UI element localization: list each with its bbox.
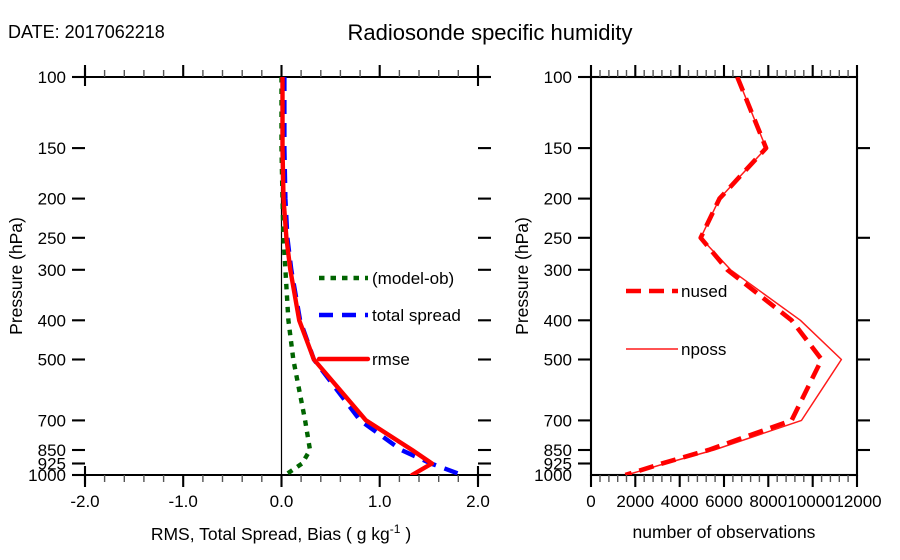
- right-ytick-1000: 1000: [534, 466, 572, 485]
- left-ytick-1000: 1000: [28, 466, 66, 485]
- legend-label-rmse: rmse: [372, 350, 410, 369]
- left-xtick-neg2: -2.0: [70, 492, 99, 511]
- left-xtick-neg1: -1.0: [169, 492, 198, 511]
- right-y-axis-title: Pressure (hPa): [512, 217, 532, 335]
- legend-label-total-spread: total spread: [372, 306, 461, 325]
- right-ytick-500: 500: [544, 351, 572, 370]
- left-y-ticks-right: [478, 77, 491, 475]
- right-xtick-6000: 6000: [705, 492, 743, 511]
- left-xtick-pos1: 1.0: [368, 492, 392, 511]
- date-label: DATE: 2017062218: [8, 22, 165, 42]
- left-y-tick-labels: 100 150 200 250 300 400 500 700 850 925 …: [28, 68, 66, 485]
- left-x-axis-title-main: RMS, Total Spread, Bias ( g kg: [151, 524, 390, 544]
- right-x-major-ticks: [591, 65, 857, 487]
- left-xtick-zero: 0.0: [270, 492, 294, 511]
- left-ytick-300: 300: [38, 261, 66, 280]
- figure-svg: DATE: 2017062218 Radiosonde specific hum…: [0, 0, 900, 560]
- legend-label-nposs: nposs: [681, 340, 726, 359]
- left-x-axis-title: RMS, Total Spread, Bias ( g kg-1 ): [151, 522, 411, 544]
- right-xtick-0: 0: [586, 492, 595, 511]
- right-ytick-700: 700: [544, 411, 572, 430]
- left-y-axis-title: Pressure (hPa): [6, 217, 26, 335]
- series-nused: [625, 77, 821, 475]
- right-panel: 100 150 200 250 300 400 500 700 850 925 …: [512, 65, 882, 542]
- left-ytick-700: 700: [38, 411, 66, 430]
- left-x-axis-title-tail: ): [400, 524, 411, 544]
- right-ytick-300: 300: [544, 261, 572, 280]
- left-ytick-200: 200: [38, 190, 66, 209]
- page-title: Radiosonde specific humidity: [348, 20, 633, 45]
- left-y-ticks: [72, 77, 85, 475]
- right-xtick-8000: 8000: [749, 492, 787, 511]
- left-x-axis-title-sup: -1: [390, 522, 401, 536]
- left-ytick-400: 400: [38, 311, 66, 330]
- right-xtick-12000: 12000: [834, 492, 881, 511]
- right-series-group: [625, 77, 841, 475]
- right-axis-frame: [591, 77, 857, 475]
- right-y-tick-labels: 100 150 200 250 300 400 500 700 850 925 …: [534, 68, 572, 485]
- right-xtick-10000: 10000: [787, 492, 834, 511]
- left-ytick-100: 100: [38, 68, 66, 87]
- right-legend: nused nposs: [626, 282, 727, 359]
- right-ytick-400: 400: [544, 311, 572, 330]
- plot-canvas: DATE: 2017062218 Radiosonde specific hum…: [0, 0, 900, 560]
- left-ytick-250: 250: [38, 229, 66, 248]
- left-legend: (model-ob) total spread rmse: [319, 269, 461, 369]
- legend-label-model-ob: (model-ob): [372, 269, 454, 288]
- right-ytick-100: 100: [544, 68, 572, 87]
- right-x-axis-title: number of observations: [633, 522, 816, 542]
- right-y-ticks: [578, 77, 870, 464]
- left-xtick-pos2: 2.0: [466, 492, 490, 511]
- right-ytick-250: 250: [544, 229, 572, 248]
- right-x-minor-ticks: [600, 70, 848, 482]
- right-ytick-200: 200: [544, 190, 572, 209]
- left-x-tick-labels: -2.0 -1.0 0.0 1.0 2.0: [70, 492, 489, 511]
- right-ytick-150: 150: [544, 139, 572, 158]
- legend-label-nused: nused: [681, 282, 727, 301]
- left-panel: 100 150 200 250 300 400 500 700 850 925 …: [6, 65, 491, 544]
- right-x-tick-labels: 0 2000 4000 6000 8000 10000 12000: [586, 492, 881, 511]
- right-xtick-4000: 4000: [661, 492, 699, 511]
- left-ytick-500: 500: [38, 351, 66, 370]
- left-ytick-150: 150: [38, 139, 66, 158]
- right-xtick-2000: 2000: [616, 492, 654, 511]
